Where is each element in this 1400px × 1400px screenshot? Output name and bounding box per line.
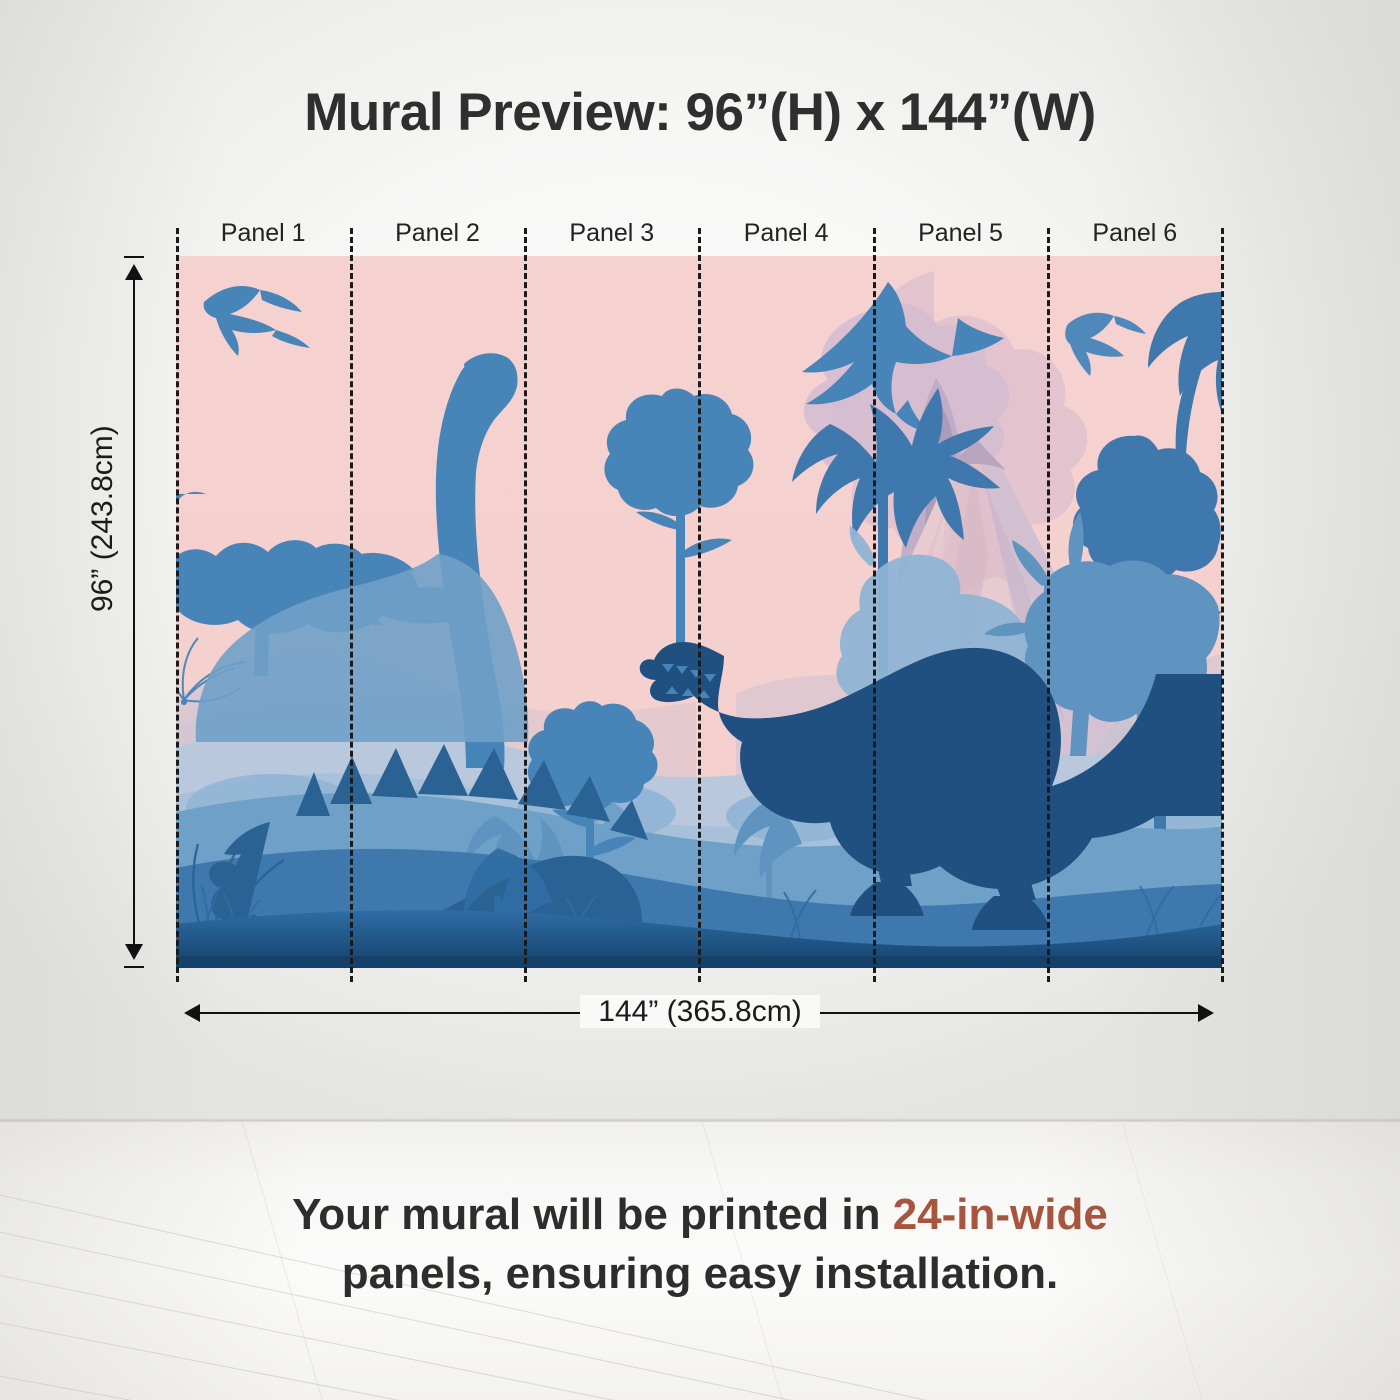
height-tick-top (124, 256, 144, 258)
panel-divider-4 (698, 228, 701, 982)
caption-line-2: panels, ensuring easy installation. (0, 1245, 1400, 1304)
caption-line-1: Your mural will be printed in 24-in-wide (0, 1186, 1400, 1245)
height-arrow-up-icon (125, 264, 143, 280)
caption: Your mural will be printed in 24-in-wide… (0, 1186, 1400, 1303)
panel-divider-7 (1221, 228, 1224, 982)
panel-divider-1 (176, 228, 179, 982)
height-arrow-down-icon (125, 944, 143, 960)
height-line (133, 266, 135, 958)
caption-text-before: Your mural will be printed in (292, 1190, 893, 1239)
page-title: Mural Preview: 96”(H) x 144”(W) (0, 82, 1400, 143)
caption-accent: 24-in-wide (893, 1190, 1108, 1239)
height-tick-bottom (124, 966, 144, 968)
panel-label-3: Panel 3 (525, 216, 699, 250)
panel-label-4: Panel 4 (699, 216, 873, 250)
panel-divider-3 (524, 228, 527, 982)
height-label: 96” (243.8cm) (86, 425, 120, 612)
width-label-wrap: 144” (365.8cm) (0, 995, 1400, 1029)
panel-divider-5 (873, 228, 876, 982)
panel-divider-6 (1047, 228, 1050, 982)
panel-label-1: Panel 1 (176, 216, 350, 250)
width-label: 144” (365.8cm) (580, 995, 819, 1028)
panel-label-6: Panel 6 (1048, 216, 1222, 250)
panel-label-5: Panel 5 (873, 216, 1047, 250)
height-dimension-line (121, 256, 147, 968)
panel-divider-2 (350, 228, 353, 982)
panel-label-2: Panel 2 (350, 216, 524, 250)
